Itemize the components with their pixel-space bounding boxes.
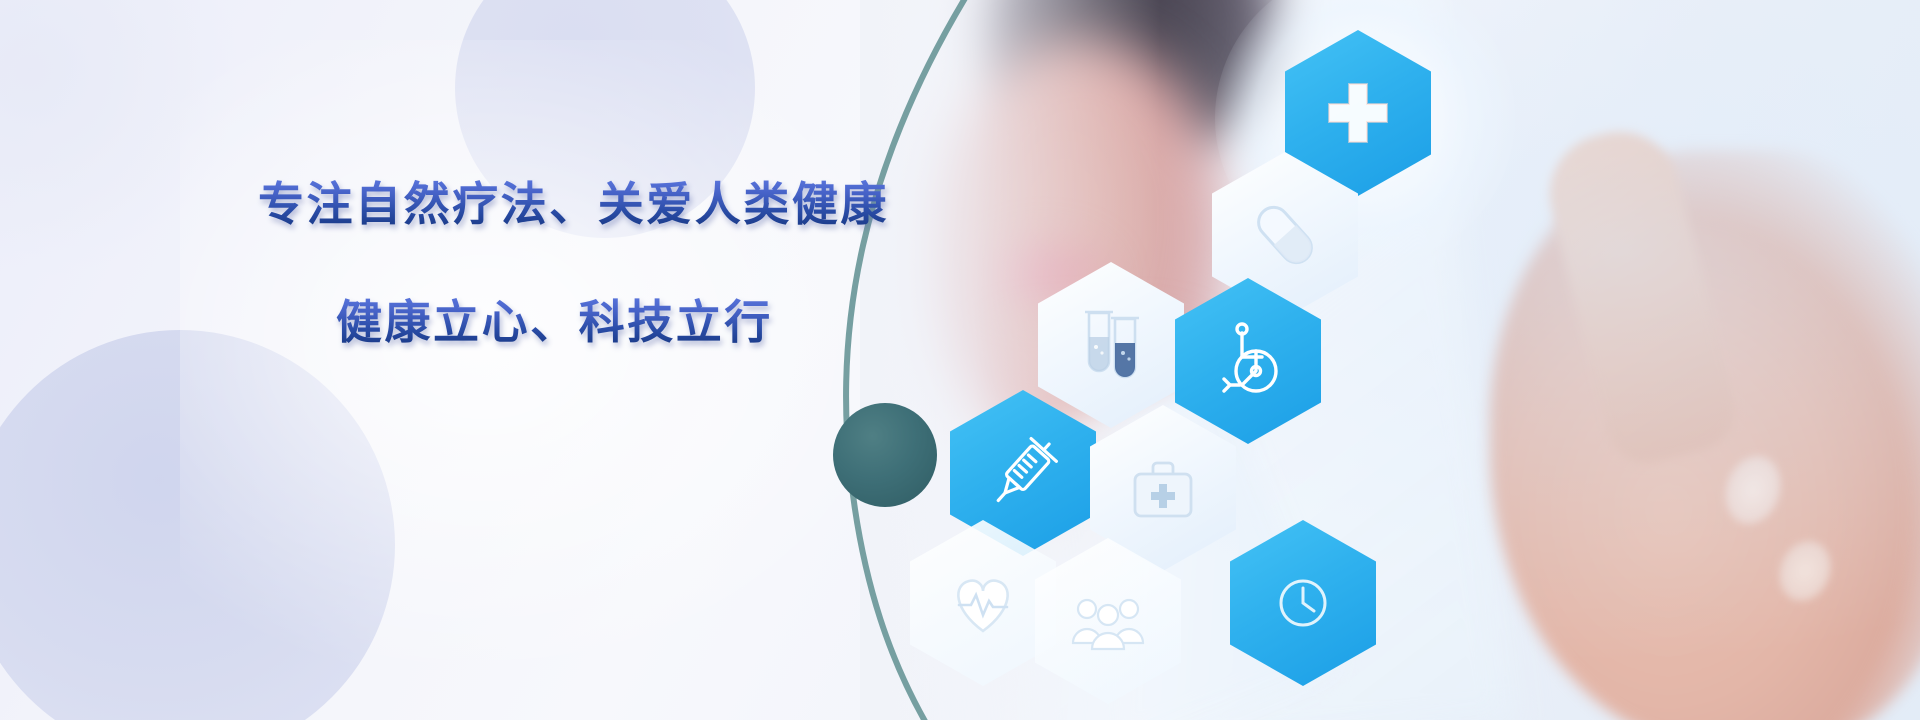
headline-line-2: 健康立心、科技立行 (336, 294, 958, 350)
headline: 专注自然疗法、关爱人类健康 健康立心、科技立行 (258, 176, 958, 350)
headline-line-1: 专注自然疗法、关爱人类健康 (258, 176, 958, 232)
decorative-glow-left (0, 0, 240, 280)
teal-dot (833, 403, 937, 507)
test-tubes-icon (1038, 262, 1184, 428)
blank-hex-icon (1230, 520, 1376, 686)
health-banner: 专注自然疗法、关爱人类健康 健康立心、科技立行 (0, 0, 1920, 720)
decorative-circle-bottom (0, 330, 395, 720)
hexagon-icon-cluster (930, 0, 1530, 720)
